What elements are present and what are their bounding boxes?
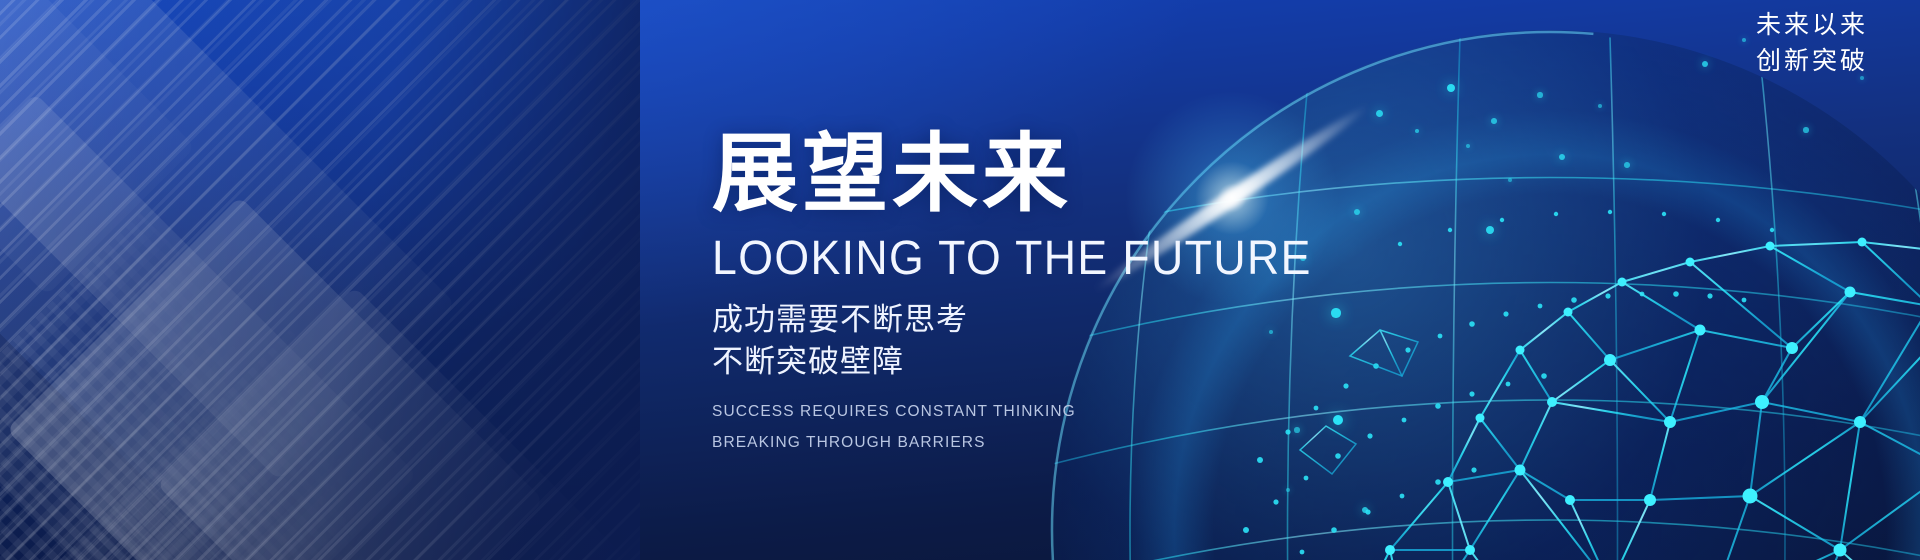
- floating-dot: [1598, 104, 1602, 108]
- floating-dot: [1376, 110, 1383, 117]
- floating-dot: [1491, 118, 1497, 124]
- translucent-quad-6: [0, 308, 207, 560]
- floating-dot: [1702, 61, 1708, 67]
- left-fade-overlay: [0, 0, 640, 560]
- page-subtitle-en: LOOKING TO THE FUTURE: [712, 233, 1419, 285]
- headline-block: 展望未来 LOOKING TO THE FUTURE 成功需要不断思考 不断突破…: [712, 130, 1472, 459]
- diagonal-stripes-layer-2: [0, 0, 640, 560]
- translucent-quad-4: [0, 0, 195, 295]
- floating-dot: [1286, 488, 1290, 492]
- tagline-en-line1: SUCCESS REQUIRES CONSTANT THINKING: [712, 396, 1472, 428]
- floating-dot: [1559, 154, 1565, 160]
- dot-grid-pattern-1: [0, 213, 437, 560]
- dot-grid-pattern-2: [50, 330, 531, 560]
- corner-tagline-line1: 未来以来: [1756, 8, 1868, 44]
- corner-tagline-line2: 创新突破: [1756, 44, 1868, 80]
- left-geometry-decoration: [0, 0, 640, 560]
- floating-dot: [1447, 84, 1455, 92]
- floating-dot: [1508, 178, 1512, 182]
- page-title: 展望未来: [712, 130, 1472, 219]
- translucent-quad-1: [0, 0, 456, 481]
- floating-dot: [1486, 226, 1494, 234]
- tagline-en: SUCCESS REQUIRES CONSTANT THINKING BREAK…: [712, 396, 1472, 460]
- tagline-cn-line2: 不断突破壁障: [712, 341, 1472, 383]
- corner-tagline: 未来以来 创新突破: [1756, 8, 1868, 79]
- floating-dot: [1742, 38, 1746, 42]
- tagline-cn: 成功需要不断思考 不断突破壁障: [712, 299, 1472, 383]
- translucent-quad-2: [0, 93, 417, 560]
- floating-dot: [1362, 507, 1369, 514]
- translucent-quad-5: [157, 287, 624, 560]
- tagline-cn-line1: 成功需要不断思考: [712, 299, 1472, 341]
- floating-dot: [1803, 127, 1808, 132]
- translucent-quad-3: [6, 196, 543, 560]
- floating-dot: [1624, 162, 1630, 168]
- floating-dot: [1537, 92, 1542, 97]
- tagline-en-line2: BREAKING THROUGH BARRIERS: [712, 427, 1472, 459]
- diagonal-stripes-layer-1: [0, 0, 640, 560]
- future-banner: 未来以来 创新突破 展望未来 LOOKING TO THE FUTURE 成功需…: [0, 0, 1920, 560]
